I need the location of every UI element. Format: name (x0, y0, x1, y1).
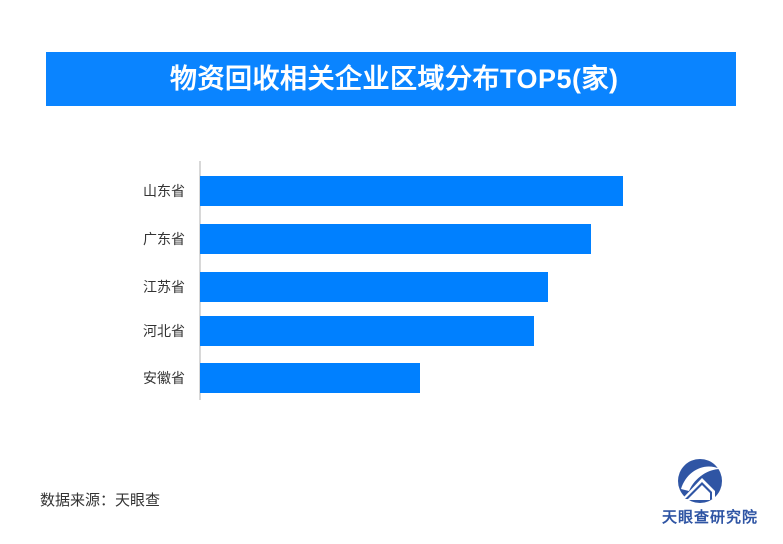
bar-category-label: 山东省 (143, 176, 185, 206)
data-source-label: 数据来源：天眼查 (40, 489, 160, 510)
bar-value-jiangsu (200, 272, 548, 302)
infographic-canvas: 物资回收相关企业区域分布TOP5(家) 山东省 广东省 江苏省 河北省 (0, 0, 783, 544)
chart-row-hebei: 河北省 (0, 316, 783, 364)
bar-value-shandong (200, 176, 623, 206)
bar-value-guangdong (200, 224, 591, 254)
bar-value-hebei (200, 316, 534, 346)
tianyancha-eye-logo-icon (675, 458, 725, 504)
chart-row-guangdong: 广东省 (0, 224, 783, 272)
bar-category-label: 江苏省 (143, 272, 185, 302)
bar-track (200, 363, 420, 393)
bar-track (200, 224, 591, 254)
chart-row-jiangsu: 江苏省 (0, 272, 783, 320)
bar-category-label: 安徽省 (143, 363, 185, 393)
bar-category-label: 广东省 (143, 224, 185, 254)
bar-track (200, 316, 534, 346)
brand-logo-text: 天眼查研究院 (655, 506, 765, 527)
chart-row-anhui: 安徽省 (0, 363, 783, 411)
bar-value-anhui (200, 363, 420, 393)
brand-logo: 天眼查研究院 (655, 458, 765, 530)
bar-category-label: 河北省 (143, 316, 185, 346)
bar-track (200, 272, 548, 302)
chart-row-shandong: 山东省 (0, 176, 783, 224)
bar-track (200, 176, 623, 206)
